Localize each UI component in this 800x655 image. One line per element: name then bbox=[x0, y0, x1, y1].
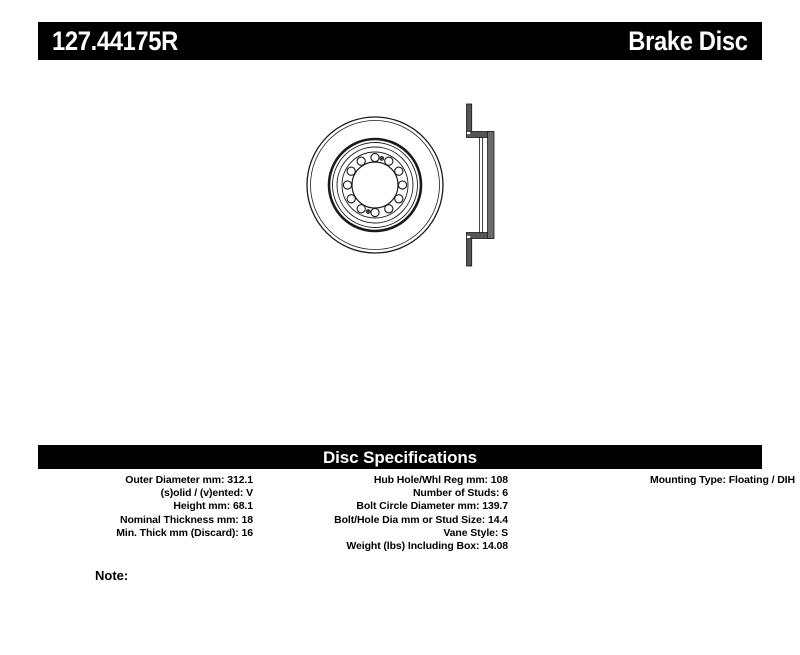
spec-row: Weight (lbs) Including Box: 14.08 bbox=[278, 540, 508, 553]
spec-title-bar: Disc Specifications bbox=[38, 445, 762, 469]
spec-row: (s)olid / (v)ented: V bbox=[38, 487, 253, 500]
spec-column-left: Outer Diameter mm: 312.1 (s)olid / (v)en… bbox=[38, 474, 253, 540]
product-type-label: Brake Disc bbox=[629, 28, 748, 55]
note-block: Note: bbox=[95, 569, 334, 582]
spec-title-label: Disc Specifications bbox=[323, 449, 477, 466]
spec-row: Vane Style: S bbox=[278, 527, 508, 540]
rotor-front-view bbox=[307, 117, 443, 253]
spec-row: Mounting Type: Floating / DIH bbox=[538, 474, 795, 487]
header-bar: 127.44175R Brake Disc bbox=[38, 22, 762, 60]
spec-row: Min. Thick mm (Discard): 16 bbox=[38, 527, 253, 540]
spec-row: Hub Hole/Whl Reg mm: 108 bbox=[278, 474, 508, 487]
note-label: Note: bbox=[95, 569, 128, 582]
spec-column-middle: Hub Hole/Whl Reg mm: 108 Number of Studs… bbox=[278, 474, 508, 553]
spec-row: Nominal Thickness mm: 18 bbox=[38, 514, 253, 527]
spec-column-right: Mounting Type: Floating / DIH bbox=[538, 474, 795, 487]
spec-row: Bolt/Hole Dia mm or Stud Size: 14.4 bbox=[278, 514, 508, 527]
spec-row: Number of Studs: 6 bbox=[278, 487, 508, 500]
spec-row: Bolt Circle Diameter mm: 139.7 bbox=[278, 500, 508, 513]
spec-row: Height mm: 68.1 bbox=[38, 500, 253, 513]
spec-row: Outer Diameter mm: 312.1 bbox=[38, 474, 253, 487]
technical-drawing bbox=[280, 92, 530, 292]
part-number-label: 127.44175R bbox=[52, 28, 178, 55]
specifications-table: Outer Diameter mm: 312.1 (s)olid / (v)en… bbox=[38, 474, 762, 574]
rotor-cross-section-view bbox=[467, 104, 495, 266]
